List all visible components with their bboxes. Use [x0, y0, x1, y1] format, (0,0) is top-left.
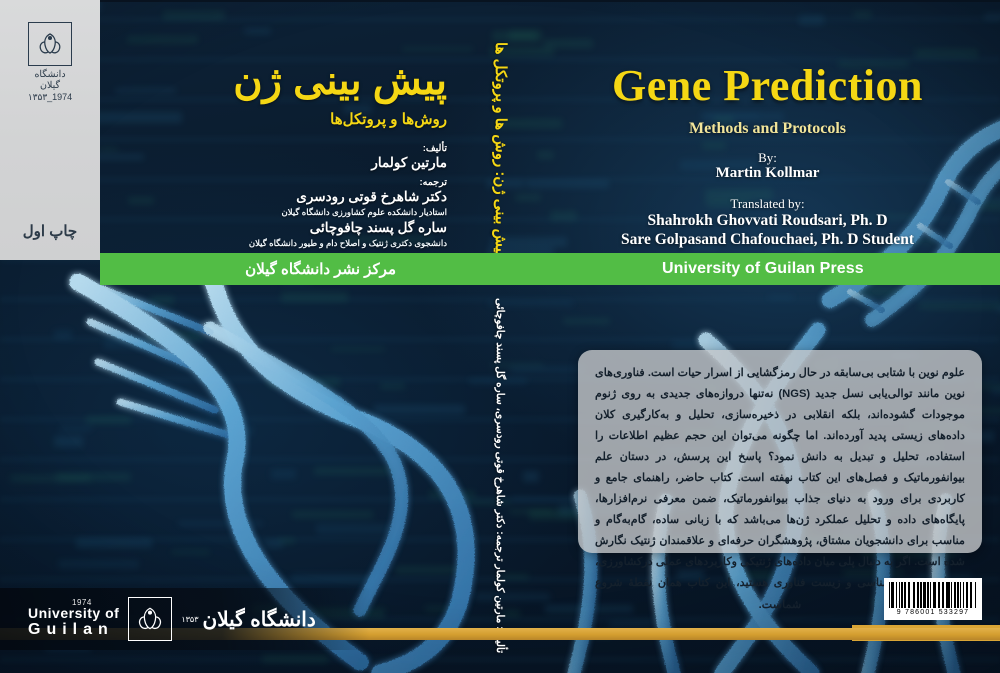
back-translator-1-en: Shahrokh Ghovvati Roudsari, Ph. D: [535, 212, 1000, 230]
book-cover-wrap: دانشگاه گیلان ۱۳۵۳_1974 چاپ اول پیش بینی…: [0, 0, 1000, 673]
back-author-en: Martin Kollmar: [535, 165, 1000, 182]
spine-credits-fa: تألیف: مارتین کولمار ترجمه: دکتر شاهرخ ق…: [494, 298, 506, 653]
flap-logo-fa-text: دانشگاه گیلان: [25, 69, 75, 91]
front-subtitle-fa: روش‌ها و پروتکل‌ها: [330, 110, 447, 128]
front-translator-2-affiliation-fa: دانشجوی دکتری ژنتیک و اصلاح دام و طیور د…: [249, 238, 447, 249]
university-name-fa: دانشگاه گیلان: [203, 607, 316, 632]
guilan-emblem-icon: [28, 22, 72, 66]
back-subtitle-en: Methods and Protocols: [535, 120, 1000, 138]
cover-flap: دانشگاه گیلان ۱۳۵۳_1974 چاپ اول: [0, 0, 100, 260]
front-author-fa: مارتین کولمار: [371, 155, 447, 171]
university-logo-lockup: 1974 University of Guilan ۱۳۵۳ دانشگاه گ…: [0, 588, 370, 650]
back-translated-label-en: Translated by:: [535, 196, 1000, 212]
university-name-line2: Guilan: [28, 621, 119, 639]
front-translator-1-affiliation-fa: استادیار دانشکده علوم کشاورزی دانشگاه گی…: [282, 207, 447, 218]
publisher-band: مرکز نشر دانشگاه گیلان University of Gui…: [100, 253, 1000, 285]
front-translator-label-fa: ترجمه:: [419, 177, 447, 188]
publisher-name-en: University of Guilan Press: [662, 260, 864, 278]
flap-university-logo: دانشگاه گیلان ۱۳۵۳_1974: [25, 22, 75, 103]
publisher-name-fa: مرکز نشر دانشگاه گیلان: [245, 260, 396, 278]
barcode: 9 786001 533297: [884, 578, 982, 620]
front-title-fa: پیش بینی ژن: [233, 58, 447, 104]
front-translator-2-fa: ساره گل پسند چافوچائی: [310, 220, 447, 236]
university-name-line1: University of: [28, 606, 119, 622]
edition-label: چاپ اول: [0, 222, 100, 240]
front-translator-1-fa: دکتر شاهرخ قوتی رودسری: [296, 189, 447, 205]
back-title-en: Gene Prediction: [535, 60, 1000, 111]
back-cover-blurb-panel: علوم نوین با شتابی بی‌سابقه در حال رمزگش…: [578, 350, 982, 553]
spine-title-fa: پیش بینی ژن: روش ها و پروتکل ها: [491, 42, 509, 257]
flap-logo-years: ۱۳۵۳_1974: [25, 92, 75, 103]
back-translator-2-en: Sare Golpasand Chafouchaei, Ph. D Studen…: [535, 231, 1000, 249]
back-by-label-en: By:: [535, 150, 1000, 166]
barcode-bars: [889, 582, 977, 608]
university-year-fa: ۱۳۵۳: [181, 615, 198, 624]
university-name-en: 1974 University of Guilan: [28, 599, 119, 640]
front-cover-persian: پیش بینی ژن روش‌ها و پروتکل‌ها تألیف: ما…: [100, 0, 465, 253]
back-cover-english: Gene Prediction Methods and Protocols By…: [535, 0, 1000, 253]
book-spine: پیش بینی ژن: روش ها و پروتکل ها تألیف: م…: [465, 0, 535, 673]
guilan-emblem-icon-large: [128, 597, 172, 641]
barcode-digits: 9 786001 533297: [889, 609, 977, 616]
front-author-label-fa: تألیف:: [423, 143, 447, 154]
